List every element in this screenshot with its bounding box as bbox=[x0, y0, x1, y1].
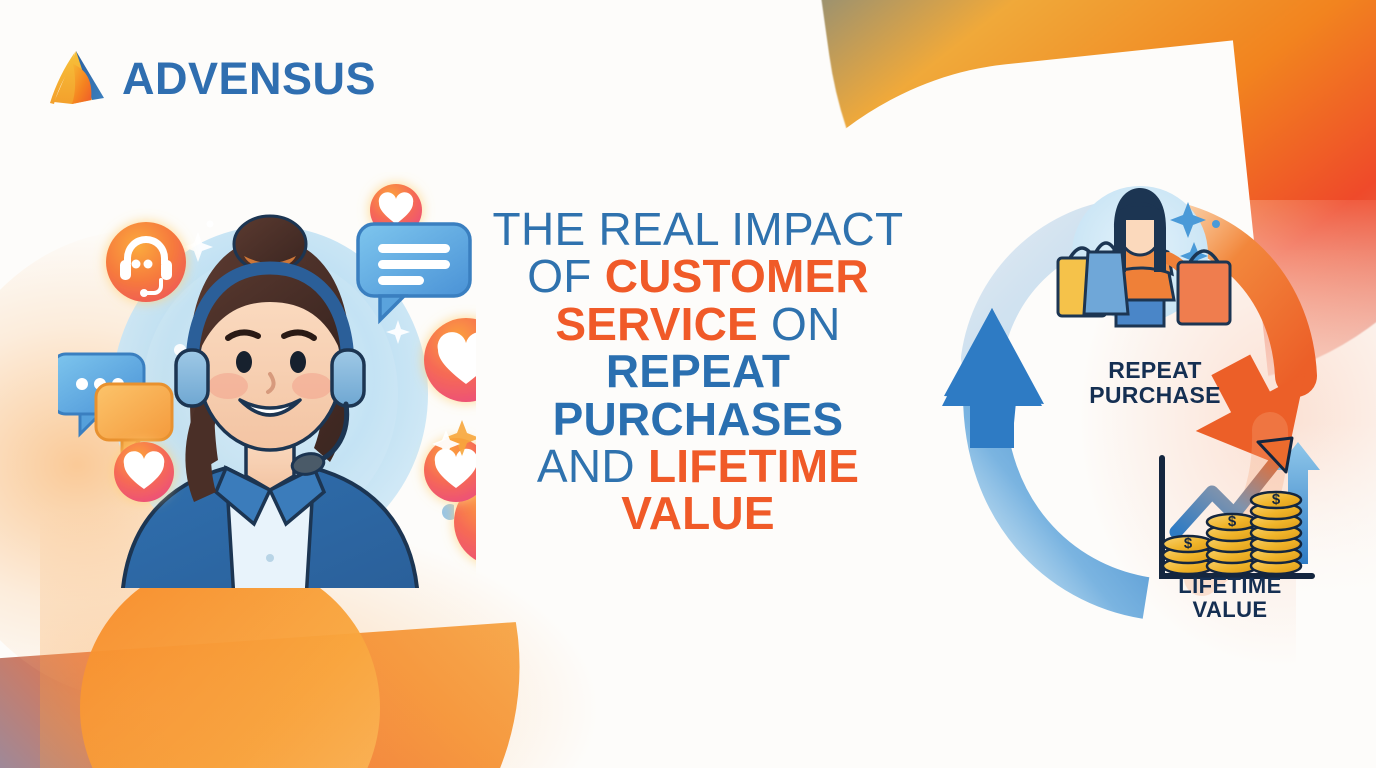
heart-icon bbox=[114, 442, 174, 502]
shopping-bag-blue bbox=[1084, 243, 1128, 314]
page-title: THE REAL IMPACT OF CUSTOMER SERVICE ON R… bbox=[478, 206, 918, 538]
blue-arrow-head-main bbox=[942, 308, 1042, 448]
coin-stack-3: $ bbox=[1251, 491, 1301, 574]
banner-canvas: ADVENSUS THE REAL IMPACT OF CUSTOMER SER… bbox=[0, 0, 1376, 768]
svg-text:$: $ bbox=[1184, 535, 1193, 552]
lifetime-value-label-line1: LIFETIME bbox=[1178, 573, 1281, 598]
headline-line-6: AND LIFETIME bbox=[478, 443, 918, 490]
headline-line-7: VALUE bbox=[478, 490, 918, 537]
headline-text-and: AND bbox=[537, 440, 648, 492]
headline-text-purchases: PURCHASES bbox=[553, 393, 844, 445]
lifetime-value-label: LIFETIME VALUE bbox=[1145, 574, 1315, 622]
repeat-purchase-label-line1: REPEAT bbox=[1108, 357, 1201, 383]
headline-line-4: REPEAT bbox=[478, 348, 918, 395]
repeat-purchase-lifetime-value-diagram: $ $ bbox=[940, 180, 1340, 650]
headline-text-the-real-impact: THE REAL IMPACT bbox=[493, 203, 904, 255]
headline-text-value: VALUE bbox=[621, 487, 775, 539]
repeat-purchase-label: REPEAT PURCHASE bbox=[1055, 358, 1255, 408]
coin-stack-growth-chart-icon: $ $ bbox=[1162, 438, 1320, 576]
coin-stack-1: $ bbox=[1163, 535, 1213, 574]
shopping-bag-orange bbox=[1178, 251, 1230, 324]
brand-name: ADVENSUS bbox=[122, 56, 376, 101]
headline-line-5: PURCHASES bbox=[478, 396, 918, 443]
svg-text:$: $ bbox=[1272, 491, 1281, 508]
brand-logo[interactable]: ADVENSUS bbox=[46, 48, 376, 108]
lifetime-value-label-line2: VALUE bbox=[1193, 597, 1268, 622]
repeat-purchase-label-line2: PURCHASE bbox=[1089, 382, 1220, 408]
headline-text-on: ON bbox=[758, 298, 841, 350]
heart-icon bbox=[424, 318, 476, 402]
advensus-triangle-logo-icon bbox=[46, 48, 108, 108]
headline-line-3: SERVICE ON bbox=[478, 301, 918, 348]
headline-line-1: THE REAL IMPACT bbox=[478, 206, 918, 253]
svg-text:$: $ bbox=[1228, 513, 1237, 530]
customer-service-agent-illustration bbox=[58, 172, 476, 600]
coin-stack-2: $ bbox=[1207, 513, 1257, 574]
headline-line-2: OF CUSTOMER bbox=[478, 253, 918, 300]
headline-text-repeat: REPEAT bbox=[606, 345, 790, 397]
headline-text-of: OF bbox=[527, 250, 605, 302]
headline-text-lifetime: LIFETIME bbox=[648, 440, 859, 492]
headline-text-customer: CUSTOMER bbox=[605, 250, 869, 302]
headset-support-icon bbox=[106, 222, 186, 302]
headline-text-service: SERVICE bbox=[555, 298, 758, 350]
